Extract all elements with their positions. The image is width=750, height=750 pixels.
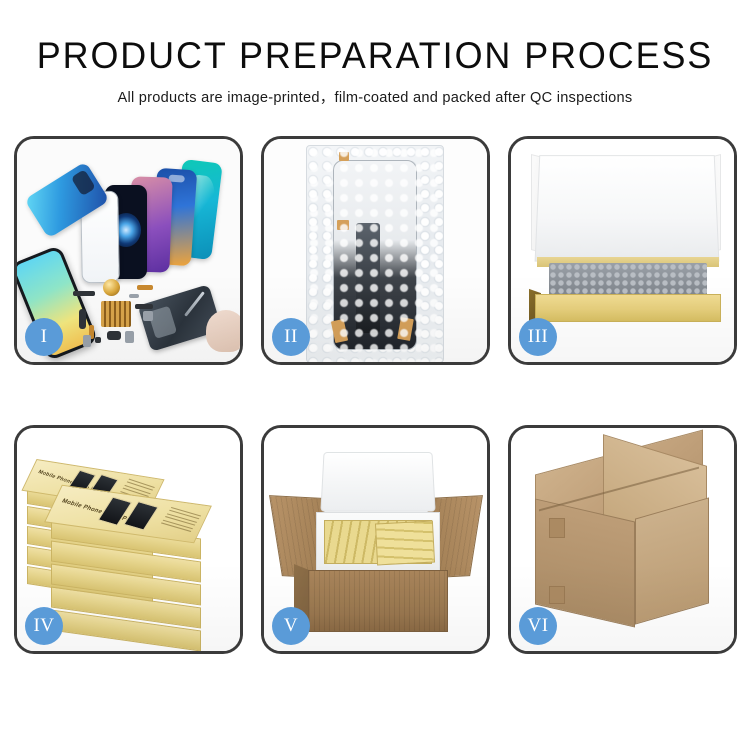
carton-right-face	[635, 497, 709, 624]
page-subtitle: All products are image-printed，film-coat…	[0, 86, 750, 107]
foam-lid	[320, 452, 435, 512]
connector-grid	[101, 301, 131, 327]
product-preparation-infographic: PRODUCT PREPARATION PROCESS All products…	[0, 0, 750, 750]
step-badge-6: VI	[519, 607, 557, 645]
step-card-5: V	[261, 425, 490, 654]
bubble-wrap-bag	[306, 145, 444, 362]
step-card-4: Mobile Phone Spare Parts	[14, 425, 243, 654]
box-front-panel	[535, 294, 721, 322]
step-badge-3: III	[519, 318, 557, 356]
packed-retail-boxes-2	[375, 521, 435, 566]
part-chip-5	[143, 311, 153, 321]
grey-foam-padding	[549, 263, 707, 297]
part-chip-7	[83, 335, 91, 347]
step-badge-4: IV	[25, 607, 63, 645]
box-spec-lines-front	[160, 507, 202, 534]
carton-tape-lower	[549, 586, 565, 604]
step-badge-1: I	[25, 318, 63, 356]
part-chip-6	[125, 331, 134, 343]
step-badge-5: V	[272, 607, 310, 645]
page-title: PRODUCT PREPARATION PROCESS	[11, 36, 739, 75]
header: PRODUCT PREPARATION PROCESS All products…	[0, 0, 750, 107]
step-card-3: III	[508, 136, 737, 365]
step-badge-2: II	[272, 318, 310, 356]
speaker-module-icon	[103, 279, 120, 296]
part-screw-1	[95, 337, 101, 343]
process-step-grid: I II	[14, 136, 736, 654]
step-card-6: VI	[508, 425, 737, 654]
part-chip-2	[129, 294, 139, 298]
part-chip-4	[135, 304, 153, 309]
carton-tape-upper	[549, 518, 565, 538]
technician-hand	[206, 310, 240, 352]
step-card-2: II	[261, 136, 490, 365]
box-foam-lid	[535, 155, 720, 261]
step-card-1: I	[14, 136, 243, 365]
tape-mid	[337, 220, 349, 230]
camera-module	[107, 331, 121, 340]
carton-front-panel	[308, 570, 448, 632]
tape-top	[339, 152, 349, 161]
part-chip-3	[79, 309, 86, 329]
part-flex-1	[137, 285, 153, 290]
part-chip-1	[73, 291, 95, 296]
